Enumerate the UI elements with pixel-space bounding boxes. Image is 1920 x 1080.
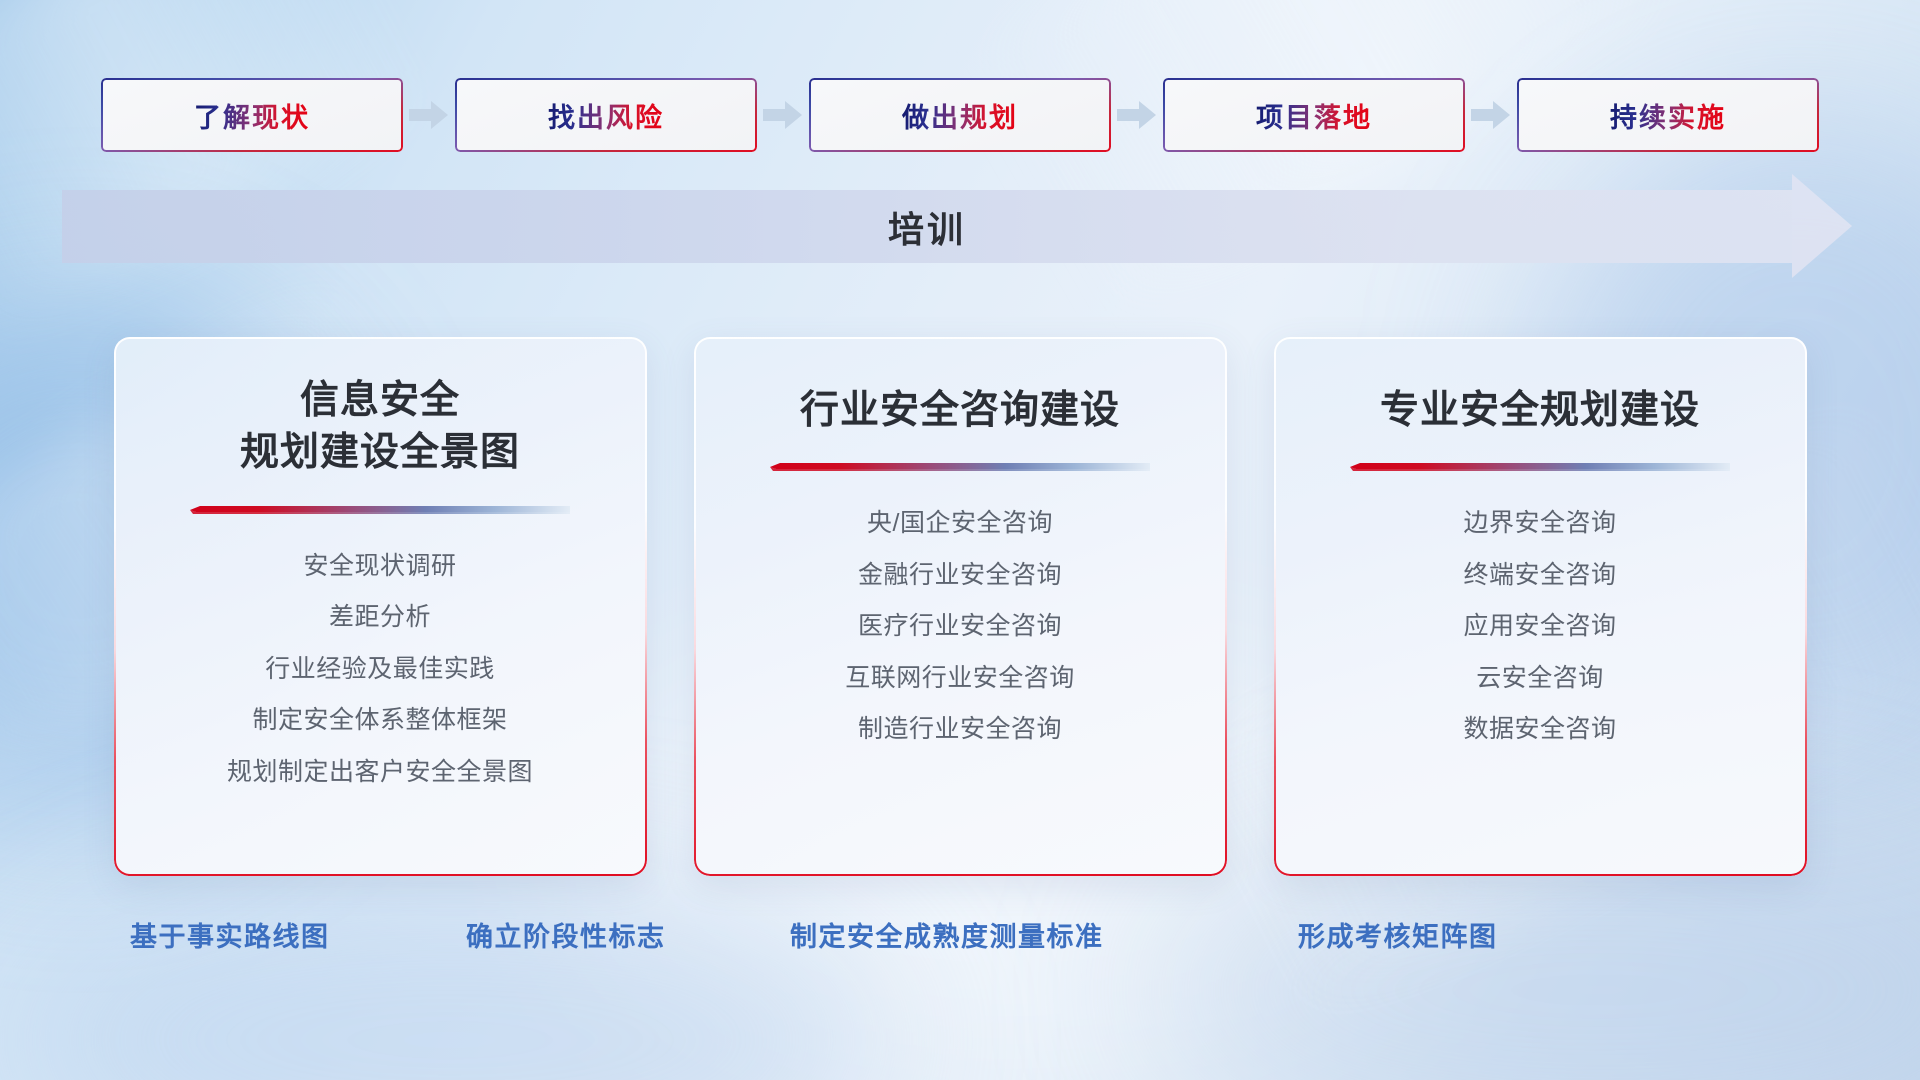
card-industry-security-consulting[interactable]: 行业安全咨询建设	[694, 337, 1227, 876]
list-item: 差距分析	[329, 596, 431, 639]
step-item-4[interactable]: 项目落地	[1163, 78, 1465, 152]
card-title-line1: 专业安全规划建设	[1300, 385, 1781, 437]
card-title: 专业安全规划建设	[1274, 385, 1807, 437]
list-item: 应用安全咨询	[1463, 605, 1616, 648]
step-label: 项目落地	[1256, 96, 1372, 135]
card-title: 行业安全咨询建设	[694, 385, 1227, 437]
step-label: 持续实施	[1610, 96, 1726, 135]
step-label: 做出规划	[902, 96, 1018, 135]
list-item: 制定安全体系整体框架	[252, 699, 507, 742]
card-information-security-blueprint[interactable]: 信息安全 规划建设全景图	[114, 337, 647, 876]
step-item-2[interactable]: 找出风险	[455, 78, 757, 152]
list-item: 数据安全咨询	[1463, 708, 1616, 751]
step-item-3[interactable]: 做出规划	[809, 78, 1111, 152]
footer-label-maturity-standard: 制定安全成熟度测量标准	[790, 915, 1104, 954]
gradient-divider-icon	[190, 506, 570, 519]
footer-label-assessment-matrix: 形成考核矩阵图	[1298, 915, 1498, 954]
step-label: 了解现状	[194, 96, 310, 135]
arrow-right-icon	[1465, 78, 1517, 152]
step-item-1[interactable]: 了解现状	[101, 78, 403, 152]
list-item: 终端安全咨询	[1463, 554, 1616, 597]
step-label: 找出风险	[548, 96, 664, 135]
training-banner: 培训	[62, 190, 1852, 263]
step-flow: 了解现状 找出风险 做出规划 项目落地 持续实施	[0, 78, 1920, 152]
card-professional-security-planning[interactable]: 专业安全规划建设	[1274, 337, 1807, 876]
card-item-list: 边界安全咨询 终端安全咨询 应用安全咨询 云安全咨询 数据安全咨询	[1274, 502, 1807, 751]
card-item-list: 央/国企安全咨询 金融行业安全咨询 医疗行业安全咨询 互联网行业安全咨询 制造行…	[694, 502, 1227, 751]
step-item-5[interactable]: 持续实施	[1517, 78, 1819, 152]
footer-label-roadmap: 基于事实路线图	[130, 915, 330, 954]
list-item: 行业经验及最佳实践	[265, 648, 495, 691]
arrow-right-icon	[757, 78, 809, 152]
card-row: 信息安全 规划建设全景图	[0, 337, 1920, 876]
banner-arrow-icon	[1792, 174, 1852, 278]
footer-label-milestones: 确立阶段性标志	[466, 915, 666, 954]
card-title-line1: 信息安全	[140, 375, 621, 427]
card-item-list: 安全现状调研 差距分析 行业经验及最佳实践 制定安全体系整体框架 规划制定出客户…	[114, 545, 647, 794]
card-title: 信息安全 规划建设全景图	[114, 375, 647, 480]
list-item: 规划制定出客户安全全景图	[227, 751, 533, 794]
arrow-right-icon	[403, 78, 455, 152]
list-item: 云安全咨询	[1476, 657, 1604, 700]
list-item: 互联网行业安全咨询	[845, 657, 1075, 700]
list-item: 央/国企安全咨询	[867, 502, 1053, 545]
arrow-right-icon	[1111, 78, 1163, 152]
list-item: 制造行业安全咨询	[858, 708, 1062, 751]
list-item: 安全现状调研	[303, 545, 456, 588]
list-item: 金融行业安全咨询	[858, 554, 1062, 597]
gradient-divider-icon	[770, 463, 1150, 476]
card-title-line1: 行业安全咨询建设	[720, 385, 1201, 437]
card-title-line2: 规划建设全景图	[140, 427, 621, 479]
list-item: 边界安全咨询	[1463, 502, 1616, 545]
list-item: 医疗行业安全咨询	[858, 605, 1062, 648]
gradient-divider-icon	[1350, 463, 1730, 476]
footer-label-row: 基于事实路线图 确立阶段性标志 制定安全成熟度测量标准 形成考核矩阵图	[0, 915, 1920, 975]
banner-label: 培训	[62, 190, 1792, 263]
